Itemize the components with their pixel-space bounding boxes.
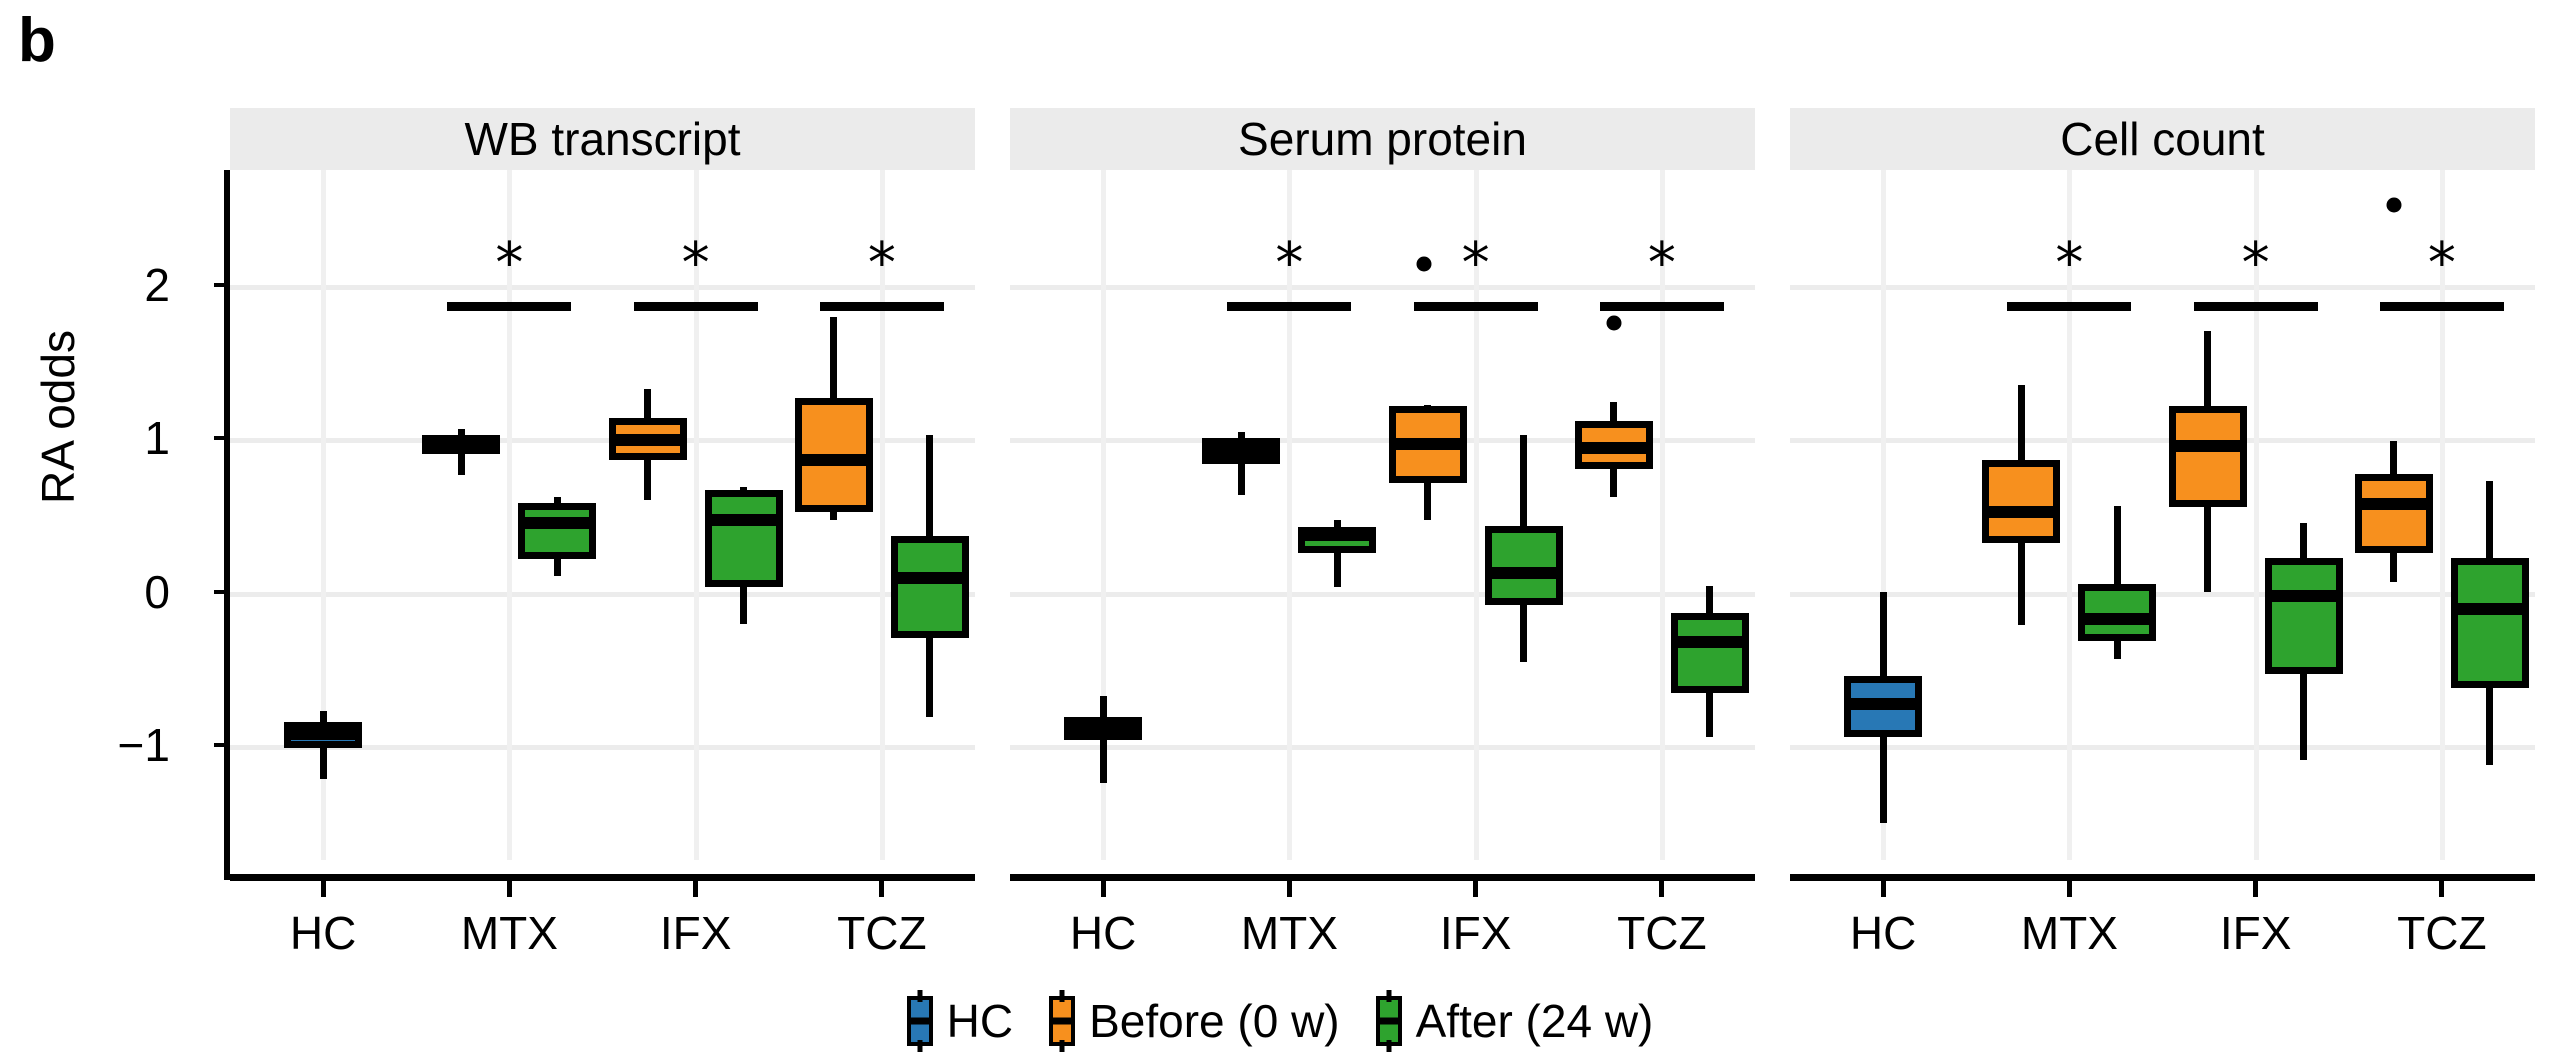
figure-panel-letter: b	[18, 10, 56, 72]
x-tick-label-hc: HC	[1070, 906, 1136, 960]
y-tick-label: −1	[80, 718, 170, 772]
significance-star: *	[2242, 236, 2270, 292]
facet-plot-area: ***	[1010, 170, 1755, 860]
legend-item-hc[interactable]: HC	[907, 994, 1013, 1048]
facet-strip: Serum protein	[1010, 108, 1755, 170]
x-tick-mark	[1473, 881, 1478, 897]
legend-label: Before (0 w)	[1089, 994, 1340, 1048]
significance-bar	[2194, 302, 2318, 311]
legend-key-median	[1376, 1018, 1402, 1025]
hc-legend-key	[907, 996, 933, 1046]
significance-bar	[1414, 302, 1538, 311]
facet-strip: Cell count	[1790, 108, 2535, 170]
x-tick-label-mtx: MTX	[1241, 906, 1338, 960]
significance-star: *	[2055, 236, 2083, 292]
x-tick-mark	[2067, 881, 2072, 897]
facet-serum-protein: Serum protein***HCMTXIFXTCZ	[1010, 108, 1755, 860]
x-tick-mark	[1659, 881, 1664, 897]
boxplot-box	[2451, 558, 2529, 688]
legend-key-whisker-bottom	[1386, 1040, 1391, 1052]
significance-bar	[2007, 302, 2131, 311]
x-tick-label-hc: HC	[290, 906, 356, 960]
significance-outlier-dot	[1416, 256, 1431, 271]
legend-label: HC	[947, 994, 1013, 1048]
significance-star: *	[2428, 236, 2456, 292]
x-tick-label-tcz: TCZ	[837, 906, 926, 960]
boxplot-median	[2451, 603, 2529, 615]
x-tick-mark	[1287, 881, 1292, 897]
x-tick-mark	[1101, 881, 1106, 897]
boxplot-tcz-after	[230, 170, 975, 860]
significance-star: *	[868, 236, 896, 292]
facet-strip: WB transcript	[230, 108, 975, 170]
x-tick-mark	[1881, 881, 1886, 897]
after-legend-key	[1376, 996, 1402, 1046]
legend-item-before[interactable]: Before (0 w)	[1049, 994, 1340, 1048]
significance-star: *	[1462, 236, 1490, 292]
y-tick-label: 0	[80, 565, 170, 619]
x-tick-label-ifx: IFX	[1440, 906, 1512, 960]
facet-cell-count: Cell count***HCMTXIFXTCZ	[1790, 108, 2535, 860]
significance-bar	[1600, 302, 1724, 311]
significance-bar	[2380, 302, 2504, 311]
x-tick-mark	[507, 881, 512, 897]
legend-key-median	[1049, 1018, 1075, 1025]
significance-bar	[634, 302, 758, 311]
x-tick-label-mtx: MTX	[461, 906, 558, 960]
facet-title: Serum protein	[1238, 112, 1527, 166]
significance-star: *	[1648, 236, 1676, 292]
facet-plot-area: ***	[1790, 170, 2535, 860]
legend: HCBefore (0 w)After (24 w)	[0, 994, 2560, 1048]
legend-key-median	[907, 1018, 933, 1025]
x-axis-line	[1010, 874, 1755, 881]
significance-star: *	[1275, 236, 1303, 292]
x-tick-label-mtx: MTX	[2021, 906, 2118, 960]
facet-plot-area: ***	[230, 170, 975, 860]
x-tick-mark	[693, 881, 698, 897]
x-tick-mark	[321, 881, 326, 897]
significance-bar	[447, 302, 571, 311]
boxplot-tcz-after	[1790, 170, 2535, 860]
boxplot-tcz-after	[1010, 170, 1755, 860]
significance-star: *	[495, 236, 523, 292]
boxplot-median	[1671, 636, 1749, 648]
y-tick-label: 1	[80, 411, 170, 465]
boxplot-box	[891, 536, 969, 637]
significance-bar	[820, 302, 944, 311]
significance-bar	[1227, 302, 1351, 311]
facet-wb-transcript: WB transcript***HCMTXIFXTCZ	[230, 108, 975, 860]
legend-item-after[interactable]: After (24 w)	[1376, 994, 1654, 1048]
facet-title: Cell count	[2060, 112, 2265, 166]
significance-star: *	[682, 236, 710, 292]
x-tick-label-ifx: IFX	[660, 906, 732, 960]
legend-key-whisker-bottom	[1060, 1040, 1065, 1052]
boxplot-median	[891, 572, 969, 584]
x-tick-mark	[2439, 881, 2444, 897]
x-tick-label-tcz: TCZ	[2397, 906, 2486, 960]
legend-key-whisker-bottom	[917, 1040, 922, 1052]
legend-key-whisker-top	[1386, 990, 1391, 1002]
x-tick-label-ifx: IFX	[2220, 906, 2292, 960]
boxplot-box	[1671, 613, 1749, 693]
legend-key-whisker-top	[917, 990, 922, 1002]
x-tick-mark	[879, 881, 884, 897]
before-legend-key	[1049, 996, 1075, 1046]
y-axis-label: RA odds	[31, 247, 85, 587]
legend-key-whisker-top	[1060, 990, 1065, 1002]
x-axis-line	[1790, 874, 2535, 881]
figure-root: b RA odds 210−1 WB transcript***HCMTXIFX…	[0, 0, 2560, 1058]
x-tick-mark	[2253, 881, 2258, 897]
legend-label: After (24 w)	[1416, 994, 1654, 1048]
x-axis-line	[230, 874, 975, 881]
facet-title: WB transcript	[464, 112, 740, 166]
x-tick-label-hc: HC	[1850, 906, 1916, 960]
y-tick-label: 2	[80, 258, 170, 312]
x-tick-label-tcz: TCZ	[1617, 906, 1706, 960]
